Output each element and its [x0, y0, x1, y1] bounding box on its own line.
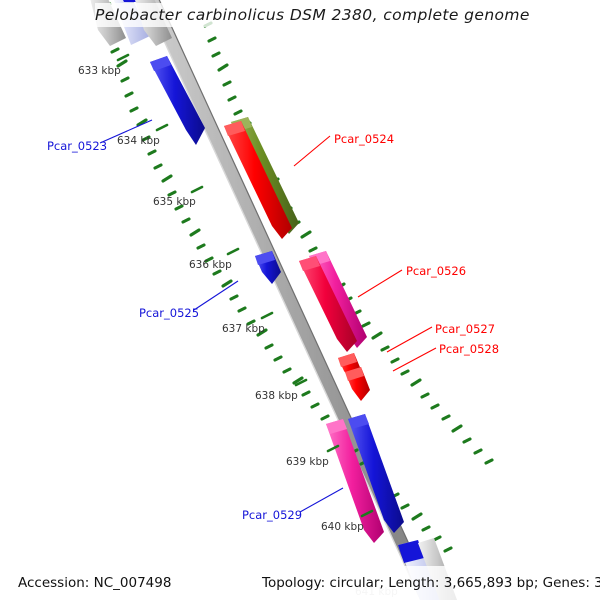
accession-label: Accession: NC_007498 [18, 575, 171, 591]
leader-pcar-0529 [300, 488, 343, 512]
leader-pcar-0525 [194, 281, 238, 310]
genome-map-viewer[interactable]: 633 kbp 634 kbp 635 kbp 636 kbp 637 kbp … [0, 0, 600, 600]
leader-pcar-0527 [387, 327, 432, 352]
gene-arrow-pcar-0528[interactable] [345, 367, 370, 401]
genome-stats-label: Topology: circular; Length: 3,665,893 bp… [262, 575, 600, 591]
status-bar: Accession: NC_007498 Topology: circular;… [0, 566, 600, 600]
leader-pcar-0524 [294, 136, 330, 166]
genome-map-canvas [0, 0, 600, 600]
leader-pcar-0526 [358, 270, 402, 297]
tick-arc-right [205, 23, 492, 463]
